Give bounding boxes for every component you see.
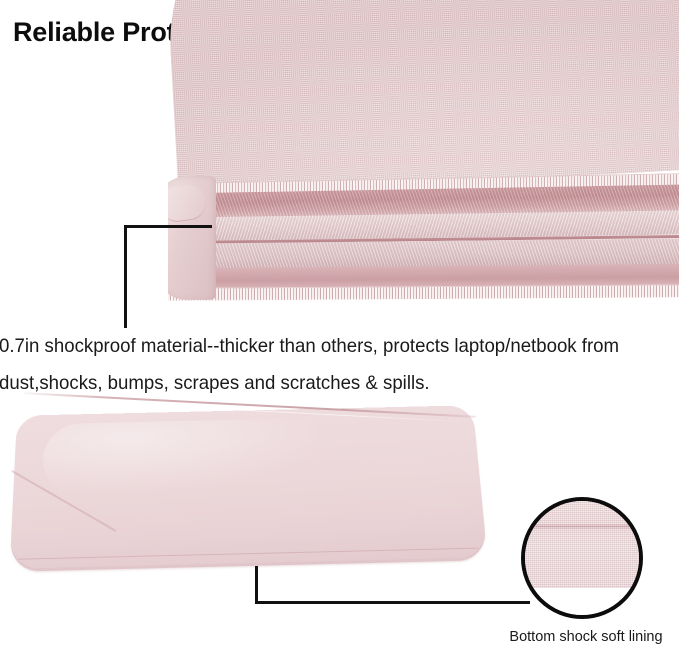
product-photo-flat-sleeve [0, 393, 500, 583]
product-photo-zipper-edge [168, 0, 679, 312]
callout-line-lining-vertical [255, 566, 258, 604]
bottom-lining-magnifier [521, 497, 643, 619]
lining-base-band [525, 588, 639, 615]
callout-line-lining-horizontal [255, 601, 530, 604]
detail-circle-caption: Bottom shock soft lining [506, 628, 666, 646]
callout-line-zipper-vertical [124, 225, 127, 328]
feature-caption-shockproof: 0.7in shockproof material--thicker than … [0, 328, 649, 402]
lining-seam-line [525, 524, 639, 529]
lining-fabric-texture [525, 501, 639, 588]
sleeve-flat-body [10, 405, 488, 569]
callout-line-zipper-horizontal [124, 225, 212, 228]
photo-bottom-fade [168, 298, 679, 312]
sleeve-top-surface [168, 0, 679, 198]
